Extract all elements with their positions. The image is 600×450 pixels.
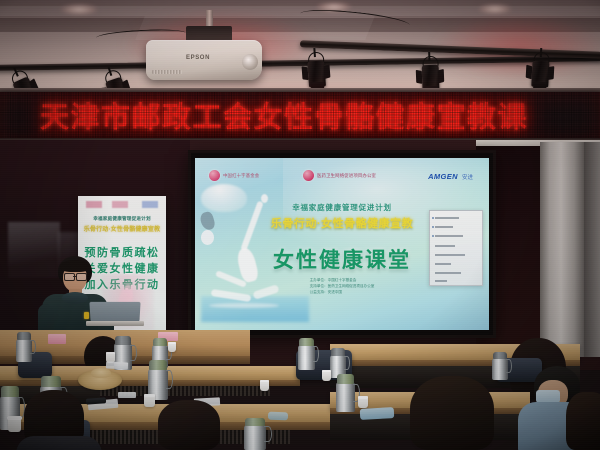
slide-logo-project-office: 医药卫生网络促进项目办公室 <box>303 170 376 181</box>
ceiling-downlight <box>60 4 98 15</box>
thermos-flask <box>298 338 315 370</box>
banner-logo-row <box>86 201 158 208</box>
dancer-ripple <box>209 303 279 308</box>
paper-cup <box>358 396 368 408</box>
slide-credit-line: 公益支持：安进中国 <box>310 290 375 296</box>
led-scrolling-banner: 天津市邮政工会女性骨骼健康宣教课 <box>0 92 600 140</box>
amgen-chinese-name: 安进 <box>462 173 473 181</box>
ceiling-downlight <box>478 4 512 14</box>
attendee-far-right <box>566 392 600 450</box>
thermos-flask <box>244 418 266 450</box>
handout-paper <box>106 361 128 369</box>
slide-subtitle-secondary: 乐骨行动·女性骨骼健康宣教 <box>271 215 413 231</box>
projection-screen-frame: 中国红十字基金会 医药卫生网络促进项目办公室 AMGEN 安进 幸福家庭健康管理… <box>188 150 496 338</box>
dancer-head <box>201 230 214 245</box>
thermos-flask <box>16 332 32 362</box>
dancer-raised-arm <box>240 201 263 252</box>
banner-header-line-2: 乐骨行动·女性骨骼健康宣教 <box>78 224 166 233</box>
presenter-glasses-right-lens <box>76 273 87 281</box>
laptop-screen <box>89 302 140 322</box>
slide-overlay-menu[interactable] <box>429 210 483 286</box>
attendee-front-left <box>20 390 106 450</box>
presenter-collar <box>62 292 88 304</box>
dancer-water <box>201 296 309 322</box>
desk-card <box>48 334 66 344</box>
ceiling-projector: EPSON <box>146 40 262 84</box>
attendee-right-longhair <box>404 376 500 450</box>
attendee-shoulders <box>16 436 102 450</box>
paper-cup <box>260 380 269 391</box>
redcross-badge-icon <box>209 170 220 181</box>
straw-hat-crown <box>91 368 111 378</box>
projector-brand-label: EPSON <box>186 55 210 61</box>
slide-logo-label: 中国红十字基金会 <box>223 173 259 179</box>
projector-body: EPSON <box>146 40 262 80</box>
slide-credit-line: 支持单位：医药卫生网络促进项目办公室 <box>310 284 375 290</box>
presenter-badge <box>84 312 89 319</box>
face-mask-on-desk <box>268 412 288 421</box>
slide-subtitle-primary: 幸福家庭健康管理促进计划 <box>292 202 392 213</box>
slide-credits: 主办单位：中国红十字基金会 支持单位：医药卫生网络促进项目办公室 公益支持：安进… <box>310 278 375 296</box>
handout-paper <box>118 392 136 398</box>
slide-logo-amgen: AMGEN 安进 <box>428 172 473 181</box>
attendee-hair <box>566 392 600 450</box>
amgen-wordmark: AMGEN <box>428 172 458 181</box>
laptop-base <box>86 321 144 326</box>
presenter-bangs <box>60 260 90 272</box>
dancer-skirt <box>201 184 247 212</box>
attendee-hair <box>410 376 494 450</box>
led-dot-matrix-overlay <box>0 92 600 140</box>
attendee-hair <box>158 400 220 450</box>
photo-scene: EPSON 天津市邮政工会女性骨骼健康宣教课 <box>0 0 600 450</box>
thermos-flask <box>336 374 355 412</box>
dancer-hand <box>261 194 268 203</box>
slide-logo-redcross: 中国红十字基金会 <box>209 170 259 181</box>
paper-cup <box>168 342 176 352</box>
face-mask-on-desk <box>360 407 395 420</box>
banner-header-line-1: 幸福家庭健康管理促进计划 <box>78 216 166 222</box>
room-pillar-edge <box>584 142 600 357</box>
presenter-glasses-left-lens <box>64 273 75 281</box>
attendee-mid-center <box>150 400 234 450</box>
projector-vent <box>152 70 182 74</box>
projection-screen: 中国红十字基金会 医药卫生网络促进项目办公室 AMGEN 安进 幸福家庭健康管理… <box>195 158 489 330</box>
projector-lens-icon <box>242 54 258 70</box>
dancer-hair <box>199 211 216 232</box>
room-pillar <box>540 142 584 357</box>
slide-logo-label: 医药卫生网络促进项目办公室 <box>317 173 376 179</box>
slide-main-title: 女性健康课堂 <box>273 244 411 274</box>
presenter-glasses-bridge <box>73 276 76 277</box>
project-office-badge-icon <box>303 170 314 181</box>
paper-cup <box>322 370 331 381</box>
